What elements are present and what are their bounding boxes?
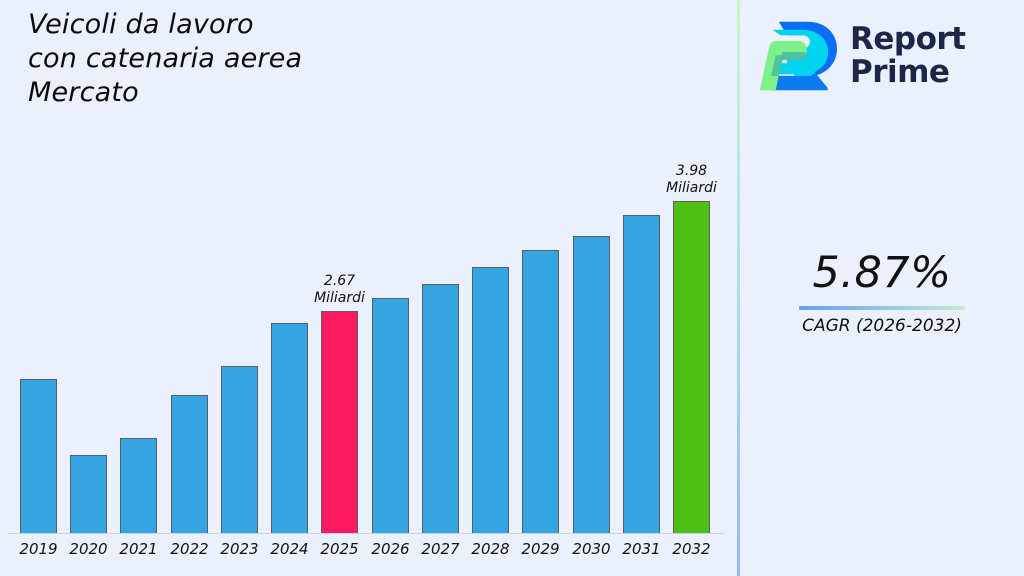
tick-2027: 2027 [422, 534, 459, 576]
bar-rect-2020 [70, 455, 107, 534]
bar-2019 [20, 319, 57, 534]
bar-rect-2022 [171, 395, 208, 534]
report-prime-r-logo-icon [758, 17, 838, 95]
x-axis-line [8, 533, 724, 534]
bar-rect-2024 [271, 323, 308, 534]
cagr-block: 5.87% CAGR (2026-2032) [740, 248, 1024, 336]
bar-rect-2027 [422, 284, 459, 534]
tick-2025: 2025 [321, 534, 358, 576]
tick-2022: 2022 [171, 534, 208, 576]
tick-2019: 2019 [20, 534, 57, 576]
bar-2020 [70, 395, 107, 534]
bar-2025: 2.67 Miliardi [321, 251, 358, 534]
bar-rect-2026 [372, 298, 409, 534]
tick-2029: 2029 [522, 534, 559, 576]
bar-rect-2032 [673, 201, 710, 534]
stat-panel: Report Prime 5.87% CAGR (2026-2032) [740, 0, 1024, 576]
bar-rect-2023 [221, 366, 258, 534]
tick-2021: 2021 [120, 534, 157, 576]
bar-rect-2031 [623, 215, 660, 534]
tick-2030: 2030 [573, 534, 610, 576]
bar-plot: 2.67 Miliardi3.98 Miliardi 2019202020212… [0, 0, 737, 576]
tick-2020: 2020 [70, 534, 107, 576]
chart-panel: Veicoli da lavoro con catenaria aerea Me… [0, 0, 737, 576]
tick-2023: 2023 [221, 534, 258, 576]
brand-logo: Report Prime [758, 10, 1008, 102]
bar-2022 [171, 335, 208, 534]
tick-2031: 2031 [623, 534, 660, 576]
bar-2021 [120, 378, 157, 534]
bar-rect-2021 [120, 438, 157, 534]
bar-rect-2030 [573, 236, 610, 534]
cagr-divider-rule [799, 306, 965, 310]
brand-name: Report Prime [850, 23, 966, 89]
chart-infographic: Veicoli da lavoro con catenaria aerea Me… [0, 0, 1024, 576]
cagr-value: 5.87% [740, 248, 1024, 298]
bar-2028 [472, 207, 509, 534]
bar-rect-2029 [522, 250, 559, 534]
bar-2032: 3.98 Miliardi [673, 141, 710, 534]
bar-2026 [372, 238, 409, 534]
bar-value-label-2032: 3.98 Miliardi [637, 163, 747, 197]
bar-2023 [221, 306, 258, 534]
tick-2032: 2032 [673, 534, 710, 576]
tick-label-2032: 2032 [657, 540, 727, 558]
bar-2031 [623, 155, 660, 534]
bar-2029 [522, 190, 559, 534]
tick-2026: 2026 [372, 534, 409, 576]
bar-rect-2025 [321, 311, 358, 534]
cagr-caption: CAGR (2026-2032) [740, 316, 1024, 336]
bar-2030 [573, 176, 610, 534]
bar-rect-2028 [472, 267, 509, 534]
tick-2024: 2024 [271, 534, 308, 576]
tick-2028: 2028 [472, 534, 509, 576]
bar-2027 [422, 224, 459, 534]
bar-rect-2019 [20, 379, 57, 534]
